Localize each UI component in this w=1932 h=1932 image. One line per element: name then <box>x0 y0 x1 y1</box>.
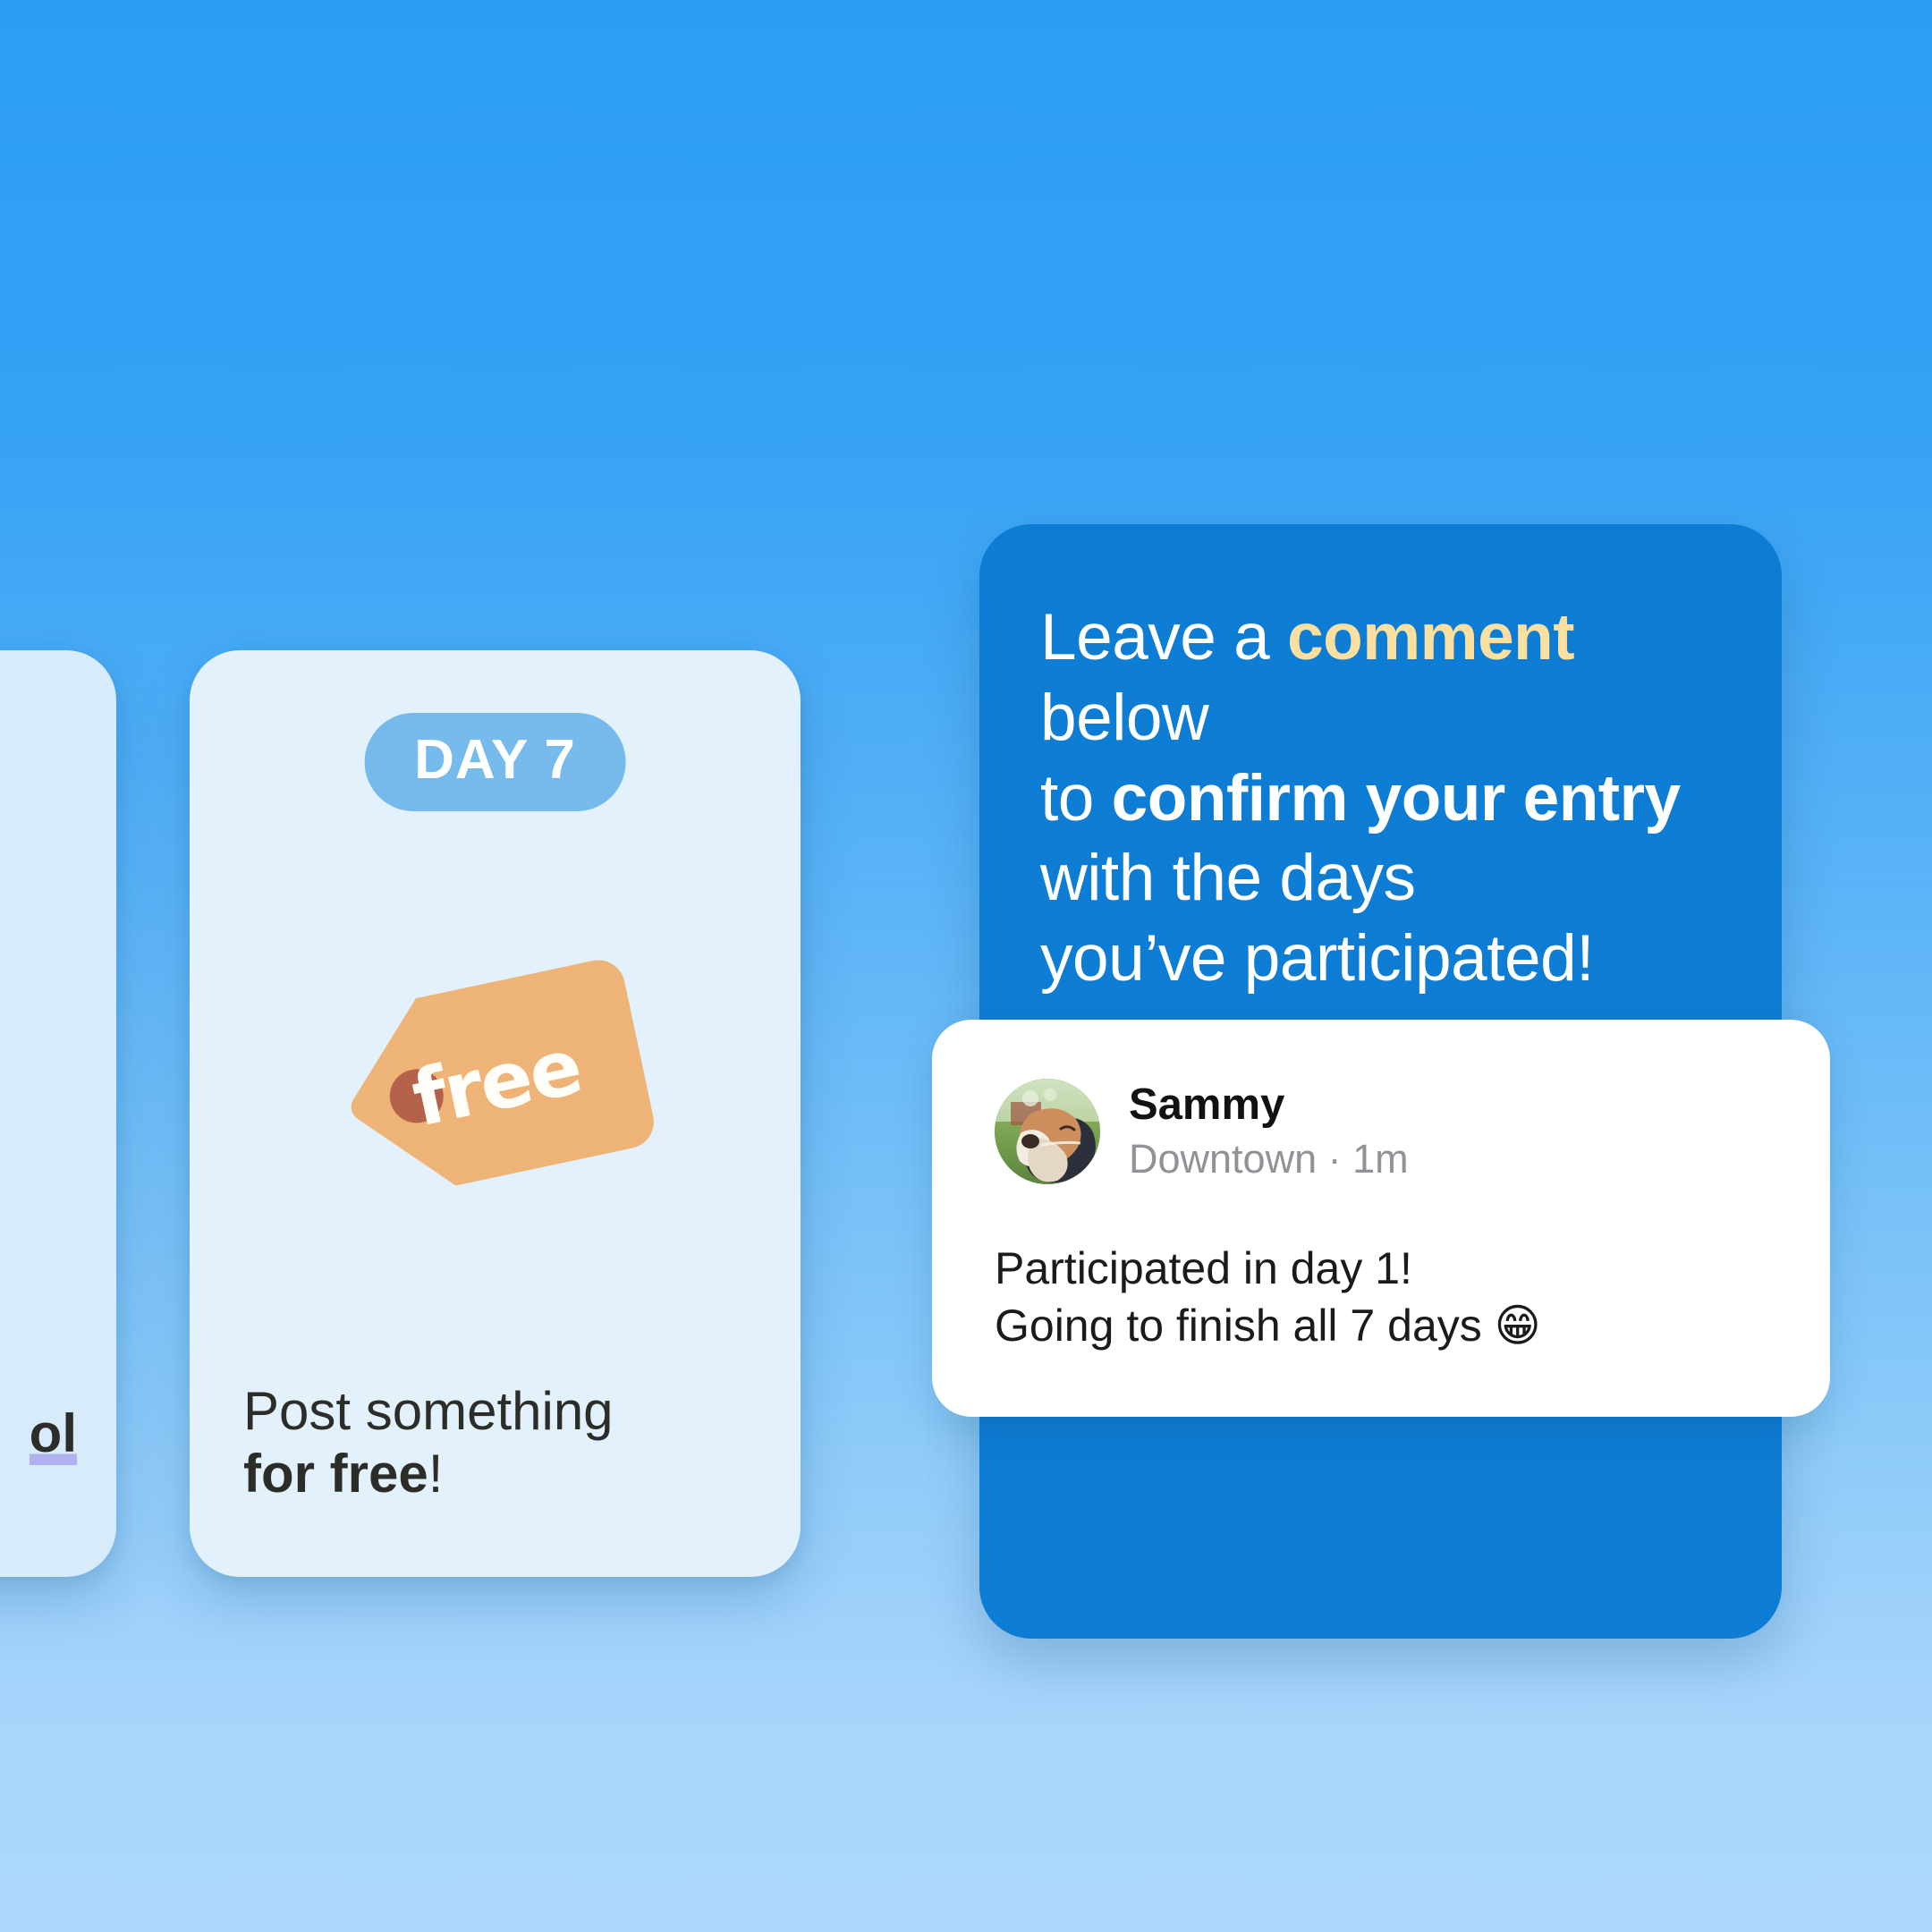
carousel-card-day-7[interactable]: DAY 7 free Post something for free! <box>190 650 801 1577</box>
card-caption-line-2-tail: ! <box>428 1444 444 1504</box>
promo-heading-l1-b: below <box>1040 682 1208 754</box>
screenshot-stage: ol DAY 7 free Post something for free! L… <box>0 0 1932 1932</box>
comment-body-line-2: Going to finish all 7 days <box>995 1301 1495 1351</box>
promo-heading-highlight: comment <box>1287 601 1574 674</box>
comment-body: Participated in day 1! Going to finish a… <box>995 1240 1794 1354</box>
promo-heading-l2-a: to <box>1040 762 1112 835</box>
promo-heading-l1-a: Leave a <box>1040 601 1287 674</box>
promo-heading: Leave a comment below to confirm your en… <box>1040 597 1732 999</box>
comment-card[interactable]: Sammy Downtown · 1m Participated in day … <box>932 1020 1830 1417</box>
carousel-card-previous-peek-text: ol <box>30 1407 77 1461</box>
promo-heading-l4: you’ve participated! <box>1040 922 1594 995</box>
card-caption-line-2-bold: for free <box>243 1444 428 1504</box>
grinning-face-emoji: 😁 <box>1495 1300 1541 1352</box>
comment-meta: Downtown · 1m <box>1129 1137 1409 1182</box>
comment-body-line-1: Participated in day 1! <box>995 1243 1412 1293</box>
comment-header: Sammy Downtown · 1m <box>995 1079 1409 1184</box>
dog-avatar-icon <box>995 1079 1100 1184</box>
promo-heading-l3: with the days <box>1040 842 1416 914</box>
price-tag-illustration: free <box>303 959 688 1227</box>
comment-author-block: Sammy Downtown · 1m <box>1129 1081 1409 1181</box>
promo-heading-l2-bold: confirm your entry <box>1112 762 1681 835</box>
avatar[interactable] <box>995 1079 1100 1184</box>
comment-author-name: Sammy <box>1129 1081 1409 1130</box>
carousel-card-previous[interactable]: ol <box>0 650 116 1577</box>
card-caption: Post something for free! <box>243 1380 765 1505</box>
day-badge: DAY 7 <box>364 713 626 811</box>
card-caption-line-1: Post something <box>243 1381 614 1441</box>
